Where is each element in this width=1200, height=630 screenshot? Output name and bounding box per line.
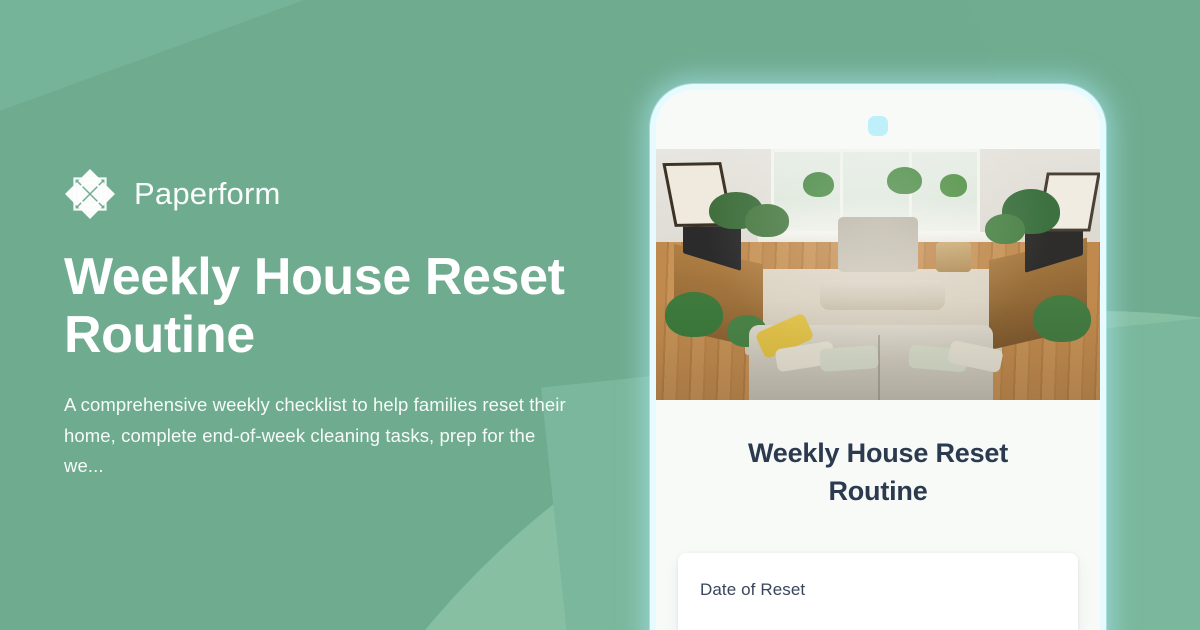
- field-label-date-of-reset: Date of Reset: [678, 580, 1078, 600]
- phone-mockup: Weekly House Reset Routine Date of Reset: [650, 84, 1106, 630]
- phone-status-area: [656, 90, 1100, 149]
- left-content-column: Paperform Weekly House Reset Routine A c…: [64, 168, 604, 481]
- front-camera-dot-icon: [868, 116, 888, 136]
- form-hero-image: [656, 149, 1100, 400]
- brand-name: Paperform: [134, 176, 281, 212]
- brand-lockup: Paperform: [64, 168, 604, 220]
- form-field-card[interactable]: Date of Reset: [678, 553, 1078, 630]
- form-title: Weekly House Reset Routine: [696, 434, 1060, 511]
- phone-screen: Weekly House Reset Routine Date of Reset: [656, 90, 1100, 630]
- page-description: A comprehensive weekly checklist to help…: [64, 390, 579, 481]
- og-image-canvas: Paperform Weekly House Reset Routine A c…: [0, 0, 1200, 630]
- paperform-rosette-icon: [64, 168, 116, 220]
- page-title: Weekly House Reset Routine: [64, 248, 584, 364]
